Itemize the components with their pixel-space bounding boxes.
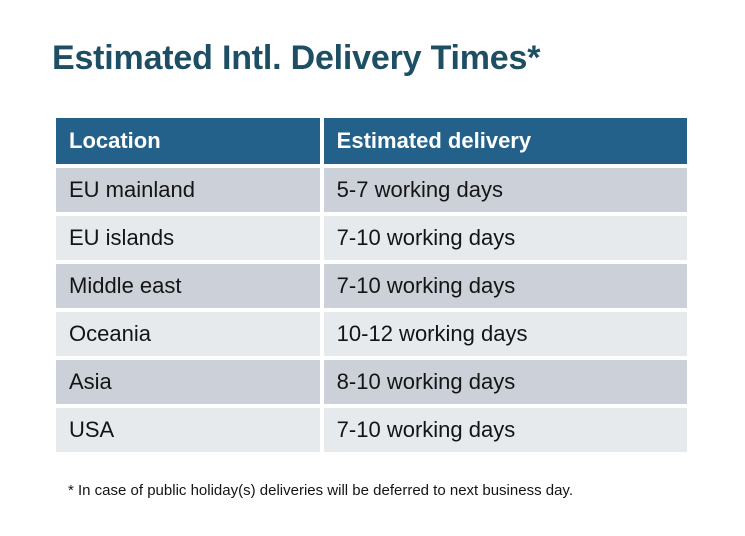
- cell-location: Middle east: [56, 264, 320, 308]
- cell-location: Oceania: [56, 312, 320, 356]
- cell-delivery: 10-12 working days: [324, 312, 687, 356]
- table-row: Middle east 7-10 working days: [56, 264, 687, 308]
- table-row: Asia 8-10 working days: [56, 360, 687, 404]
- table-header-row: Location Estimated delivery: [56, 118, 687, 164]
- cell-location: USA: [56, 408, 320, 452]
- cell-delivery: 5-7 working days: [324, 168, 687, 212]
- cell-delivery: 7-10 working days: [324, 408, 687, 452]
- delivery-times-page: Estimated Intl. Delivery Times* Location…: [0, 0, 745, 536]
- cell-location: EU mainland: [56, 168, 320, 212]
- table-row: Oceania 10-12 working days: [56, 312, 687, 356]
- table-row: EU islands 7-10 working days: [56, 216, 687, 260]
- delivery-times-table: Location Estimated delivery EU mainland …: [52, 114, 691, 456]
- table-row: USA 7-10 working days: [56, 408, 687, 452]
- cell-delivery: 7-10 working days: [324, 264, 687, 308]
- footnote: * In case of public holiday(s) deliverie…: [68, 481, 573, 501]
- cell-delivery: 8-10 working days: [324, 360, 687, 404]
- page-title: Estimated Intl. Delivery Times*: [52, 36, 540, 80]
- column-header-location: Location: [56, 118, 320, 164]
- table-body: EU mainland 5-7 working days EU islands …: [56, 168, 687, 452]
- table-header: Location Estimated delivery: [56, 118, 687, 164]
- table-row: EU mainland 5-7 working days: [56, 168, 687, 212]
- cell-location: Asia: [56, 360, 320, 404]
- cell-delivery: 7-10 working days: [324, 216, 687, 260]
- column-header-delivery: Estimated delivery: [324, 118, 687, 164]
- cell-location: EU islands: [56, 216, 320, 260]
